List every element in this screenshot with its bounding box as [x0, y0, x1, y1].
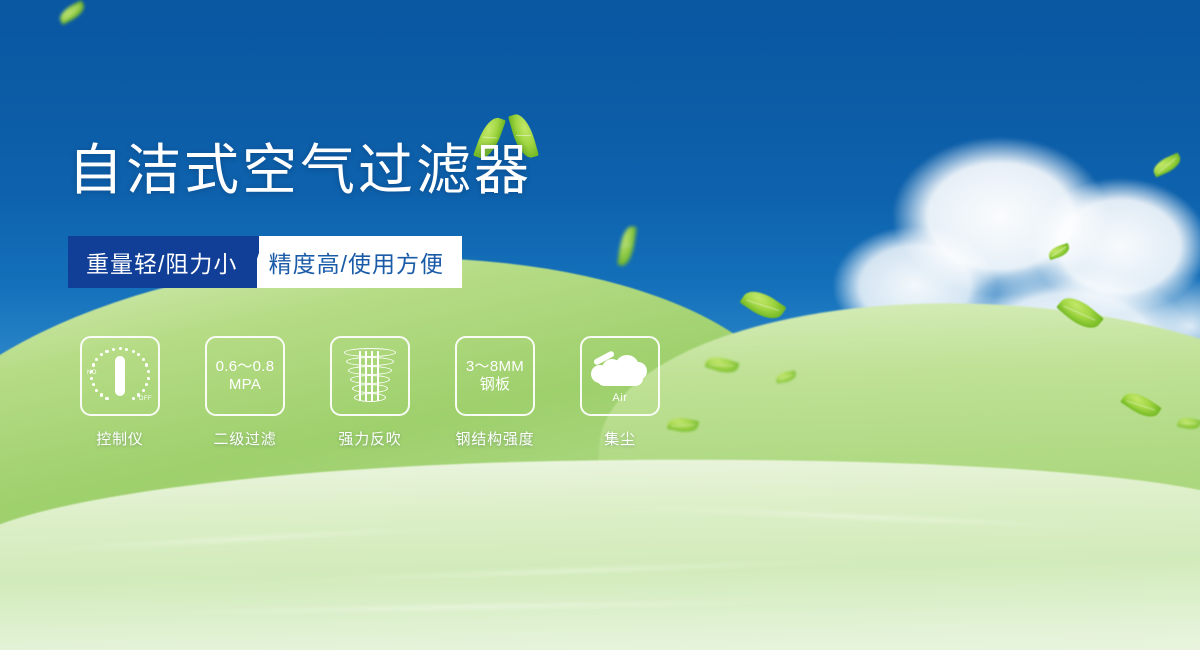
dial-off-label: OFF	[139, 396, 152, 402]
feature-item-blowback[interactable]: 强力反吹	[328, 336, 412, 449]
coil-spring-icon	[343, 347, 397, 405]
feature-label-steel: 钢结构强度	[455, 428, 534, 449]
tagline-divider	[257, 236, 258, 288]
pressure-value-line2: MPA	[229, 376, 261, 394]
tagline-bar: 重量轻/阻力小 精度高/使用方便	[68, 236, 462, 288]
feature-list: NO OFF 控制仪 0.6～0.8 MPA 二级过滤	[78, 336, 662, 449]
leaf-icon	[1150, 153, 1183, 178]
product-banner: 自洁式空气过滤器 重量轻/阻力小 精度高/使用方便	[0, 0, 1200, 650]
grass-field	[0, 420, 1200, 650]
steel-value-line2: 钢板	[480, 376, 511, 394]
feature-item-controller[interactable]: NO OFF 控制仪	[78, 336, 162, 449]
leaf-icon	[57, 0, 88, 25]
tagline-right: 精度高/使用方便	[259, 236, 462, 288]
dial-gauge-icon: NO OFF	[87, 345, 153, 407]
leaf-icon	[1047, 243, 1071, 260]
feature-label-controller: 控制仪	[96, 428, 143, 449]
pressure-value-line1: 0.6～0.8	[216, 358, 275, 376]
coil-vertical-bars	[357, 351, 383, 401]
feature-item-steel[interactable]: 3～8MM 钢板 钢结构强度	[453, 336, 537, 449]
air-label: Air	[612, 392, 627, 404]
feature-box-dust: Air	[580, 336, 660, 416]
leaf-icon	[617, 225, 636, 267]
tagline-left: 重量轻/阻力小	[68, 236, 257, 288]
air-cloud-icon	[591, 351, 649, 391]
feature-label-blowback: 强力反吹	[338, 428, 401, 449]
feature-item-dust[interactable]: Air 集尘	[578, 336, 662, 449]
dial-pointer	[115, 356, 125, 396]
feature-box-blowback	[330, 336, 410, 416]
feature-box-filtration: 0.6～0.8 MPA	[205, 336, 285, 416]
page-title: 自洁式空气过滤器	[68, 143, 532, 198]
feature-item-filtration[interactable]: 0.6～0.8 MPA 二级过滤	[203, 336, 287, 449]
feature-label-dust: 集尘	[604, 428, 636, 449]
steel-value-line1: 3～8MM	[466, 358, 524, 376]
feature-box-steel: 3～8MM 钢板	[455, 336, 535, 416]
feature-label-filtration: 二级过滤	[213, 428, 276, 449]
dial-on-label: NO	[87, 370, 97, 376]
feature-box-controller: NO OFF	[80, 336, 160, 416]
